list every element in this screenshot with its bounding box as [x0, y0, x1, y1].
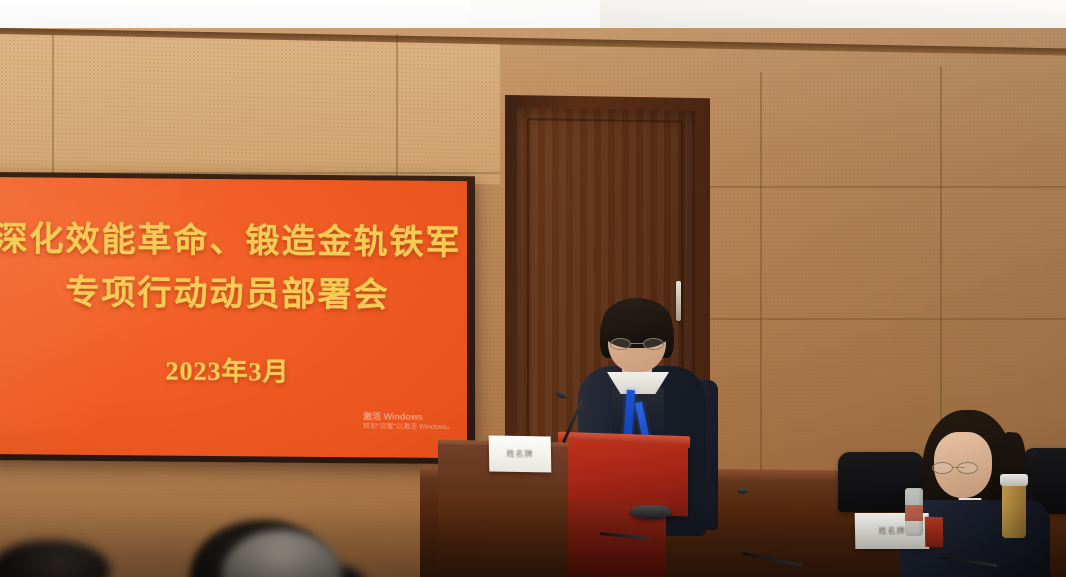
watermark-line-2: 转到"设置"以激活 Windows。 [363, 422, 463, 432]
thermos-flask[interactable] [1002, 480, 1026, 538]
nameplate-red-backing [925, 517, 944, 548]
slide-title-line-2: 专项行动动员部署会 [0, 264, 467, 317]
attendee-glasses-icon [932, 462, 978, 473]
wall-seam [760, 72, 762, 492]
slide-date: 2023年3月 [0, 349, 467, 390]
watermark-line-1: 激活 Windows [363, 410, 463, 423]
speaker-glasses-icon [610, 338, 664, 350]
door-handle[interactable] [676, 281, 681, 321]
microphone-head-icon [737, 488, 748, 494]
nameplate-podium: 姓名牌 [489, 435, 552, 472]
conference-photo: 深化效能革命、锻造金轨铁军 专项行动动员部署会 2023年3月 激活 Windo… [0, 0, 1066, 577]
projection-screen: 深化效能革命、锻造金轨铁军 专项行动动员部署会 2023年3月 激活 Windo… [0, 177, 467, 458]
wall-seam [396, 34, 398, 184]
lens-right [957, 462, 978, 474]
thermos-cap[interactable] [1000, 474, 1028, 486]
water-glass-label [905, 505, 923, 521]
wall-upper-left-panel [0, 34, 500, 184]
lens-left [932, 462, 953, 474]
wall-seam [700, 186, 1066, 188]
wall-seam [52, 34, 54, 194]
lens-left [610, 338, 631, 350]
lens-right [643, 338, 664, 350]
microphone-base [630, 505, 672, 519]
glasses-bridge [631, 343, 643, 344]
wall-seam [940, 66, 942, 466]
wall-seam [700, 318, 1066, 320]
windows-activation-watermark: 激活 Windows 转到"设置"以激活 Windows。 [363, 410, 463, 432]
nameplate-text: 姓名牌 [489, 448, 551, 460]
slide-title-line-1: 深化效能革命、锻造金轨铁军 [0, 211, 467, 264]
